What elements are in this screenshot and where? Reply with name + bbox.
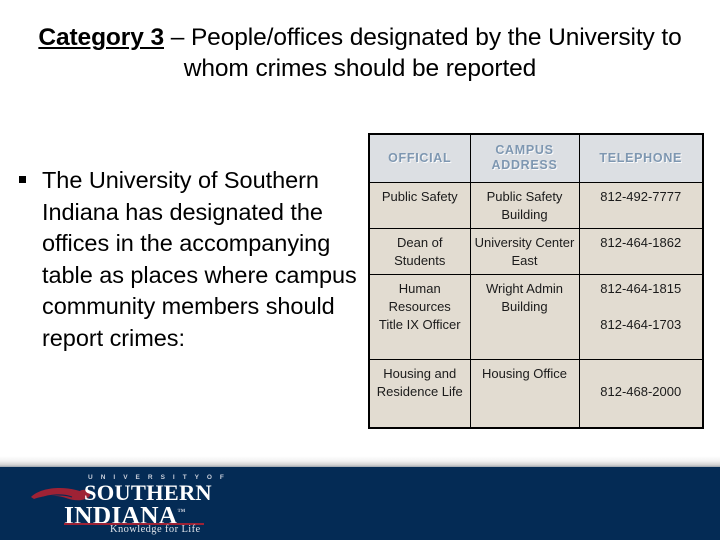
cell-telephone: 812-464-1862 bbox=[579, 228, 703, 274]
table-header-row: OFFICIAL CAMPUS ADDRESS TELEPHONE bbox=[369, 134, 703, 182]
title-emphasis: Category 3 bbox=[38, 24, 164, 51]
cell-official: Human Resources Title IX Officer bbox=[369, 274, 470, 359]
cell-official: Dean of Students bbox=[369, 228, 470, 274]
cell-official: Housing and Residence Life bbox=[369, 359, 470, 428]
spacer bbox=[583, 298, 700, 316]
logo-tagline: Knowledge for Life bbox=[110, 524, 201, 535]
cell-official-primary: Human Resources bbox=[373, 280, 467, 316]
table-row: Public Safety Public Safety Building 812… bbox=[369, 182, 703, 228]
cell-telephone: 812-464-1815 812-464-1703 bbox=[579, 274, 703, 359]
spacer bbox=[583, 365, 700, 383]
table-row: Human Resources Title IX Officer Wright … bbox=[369, 274, 703, 359]
list-item: The University of Southern Indiana has d… bbox=[14, 165, 359, 354]
cell-telephone: 812-492-7777 bbox=[579, 182, 703, 228]
page-title: Category 3 – People/offices designated b… bbox=[24, 22, 696, 84]
cell-address: Housing Office bbox=[470, 359, 579, 428]
cell-telephone-secondary: 812-464-1703 bbox=[583, 316, 700, 334]
table-row: Dean of Students University Center East … bbox=[369, 228, 703, 274]
cell-telephone-secondary: 812-468-2000 bbox=[583, 383, 700, 401]
cell-address: Wright Admin Building bbox=[470, 274, 579, 359]
title-rest: – People/offices designated by the Unive… bbox=[164, 24, 682, 82]
column-header-telephone: TELEPHONE bbox=[579, 134, 703, 182]
bullet-list: The University of Southern Indiana has d… bbox=[14, 165, 359, 354]
cell-official-secondary: Title IX Officer bbox=[373, 316, 467, 334]
cell-telephone-primary: 812-464-1815 bbox=[583, 280, 700, 298]
column-header-official: OFFICIAL bbox=[369, 134, 470, 182]
column-header-campus-address: CAMPUS ADDRESS bbox=[470, 134, 579, 182]
cell-address: Public Safety Building bbox=[470, 182, 579, 228]
cell-address: University Center East bbox=[470, 228, 579, 274]
cell-official: Public Safety bbox=[369, 182, 470, 228]
footer-divider bbox=[0, 456, 720, 467]
square-bullet-icon bbox=[14, 165, 42, 197]
usi-logo: U N I V E R S I T Y O F SOUTHERN INDIANA… bbox=[30, 474, 210, 534]
table-row: Housing and Residence Life Housing Offic… bbox=[369, 359, 703, 428]
bullet-item-text: The University of Southern Indiana has d… bbox=[42, 165, 359, 354]
trademark-symbol: ™ bbox=[177, 507, 185, 516]
reporting-offices-table: OFFICIAL CAMPUS ADDRESS TELEPHONE Public… bbox=[368, 133, 704, 429]
cell-telephone: 812-468-2000 bbox=[579, 359, 703, 428]
